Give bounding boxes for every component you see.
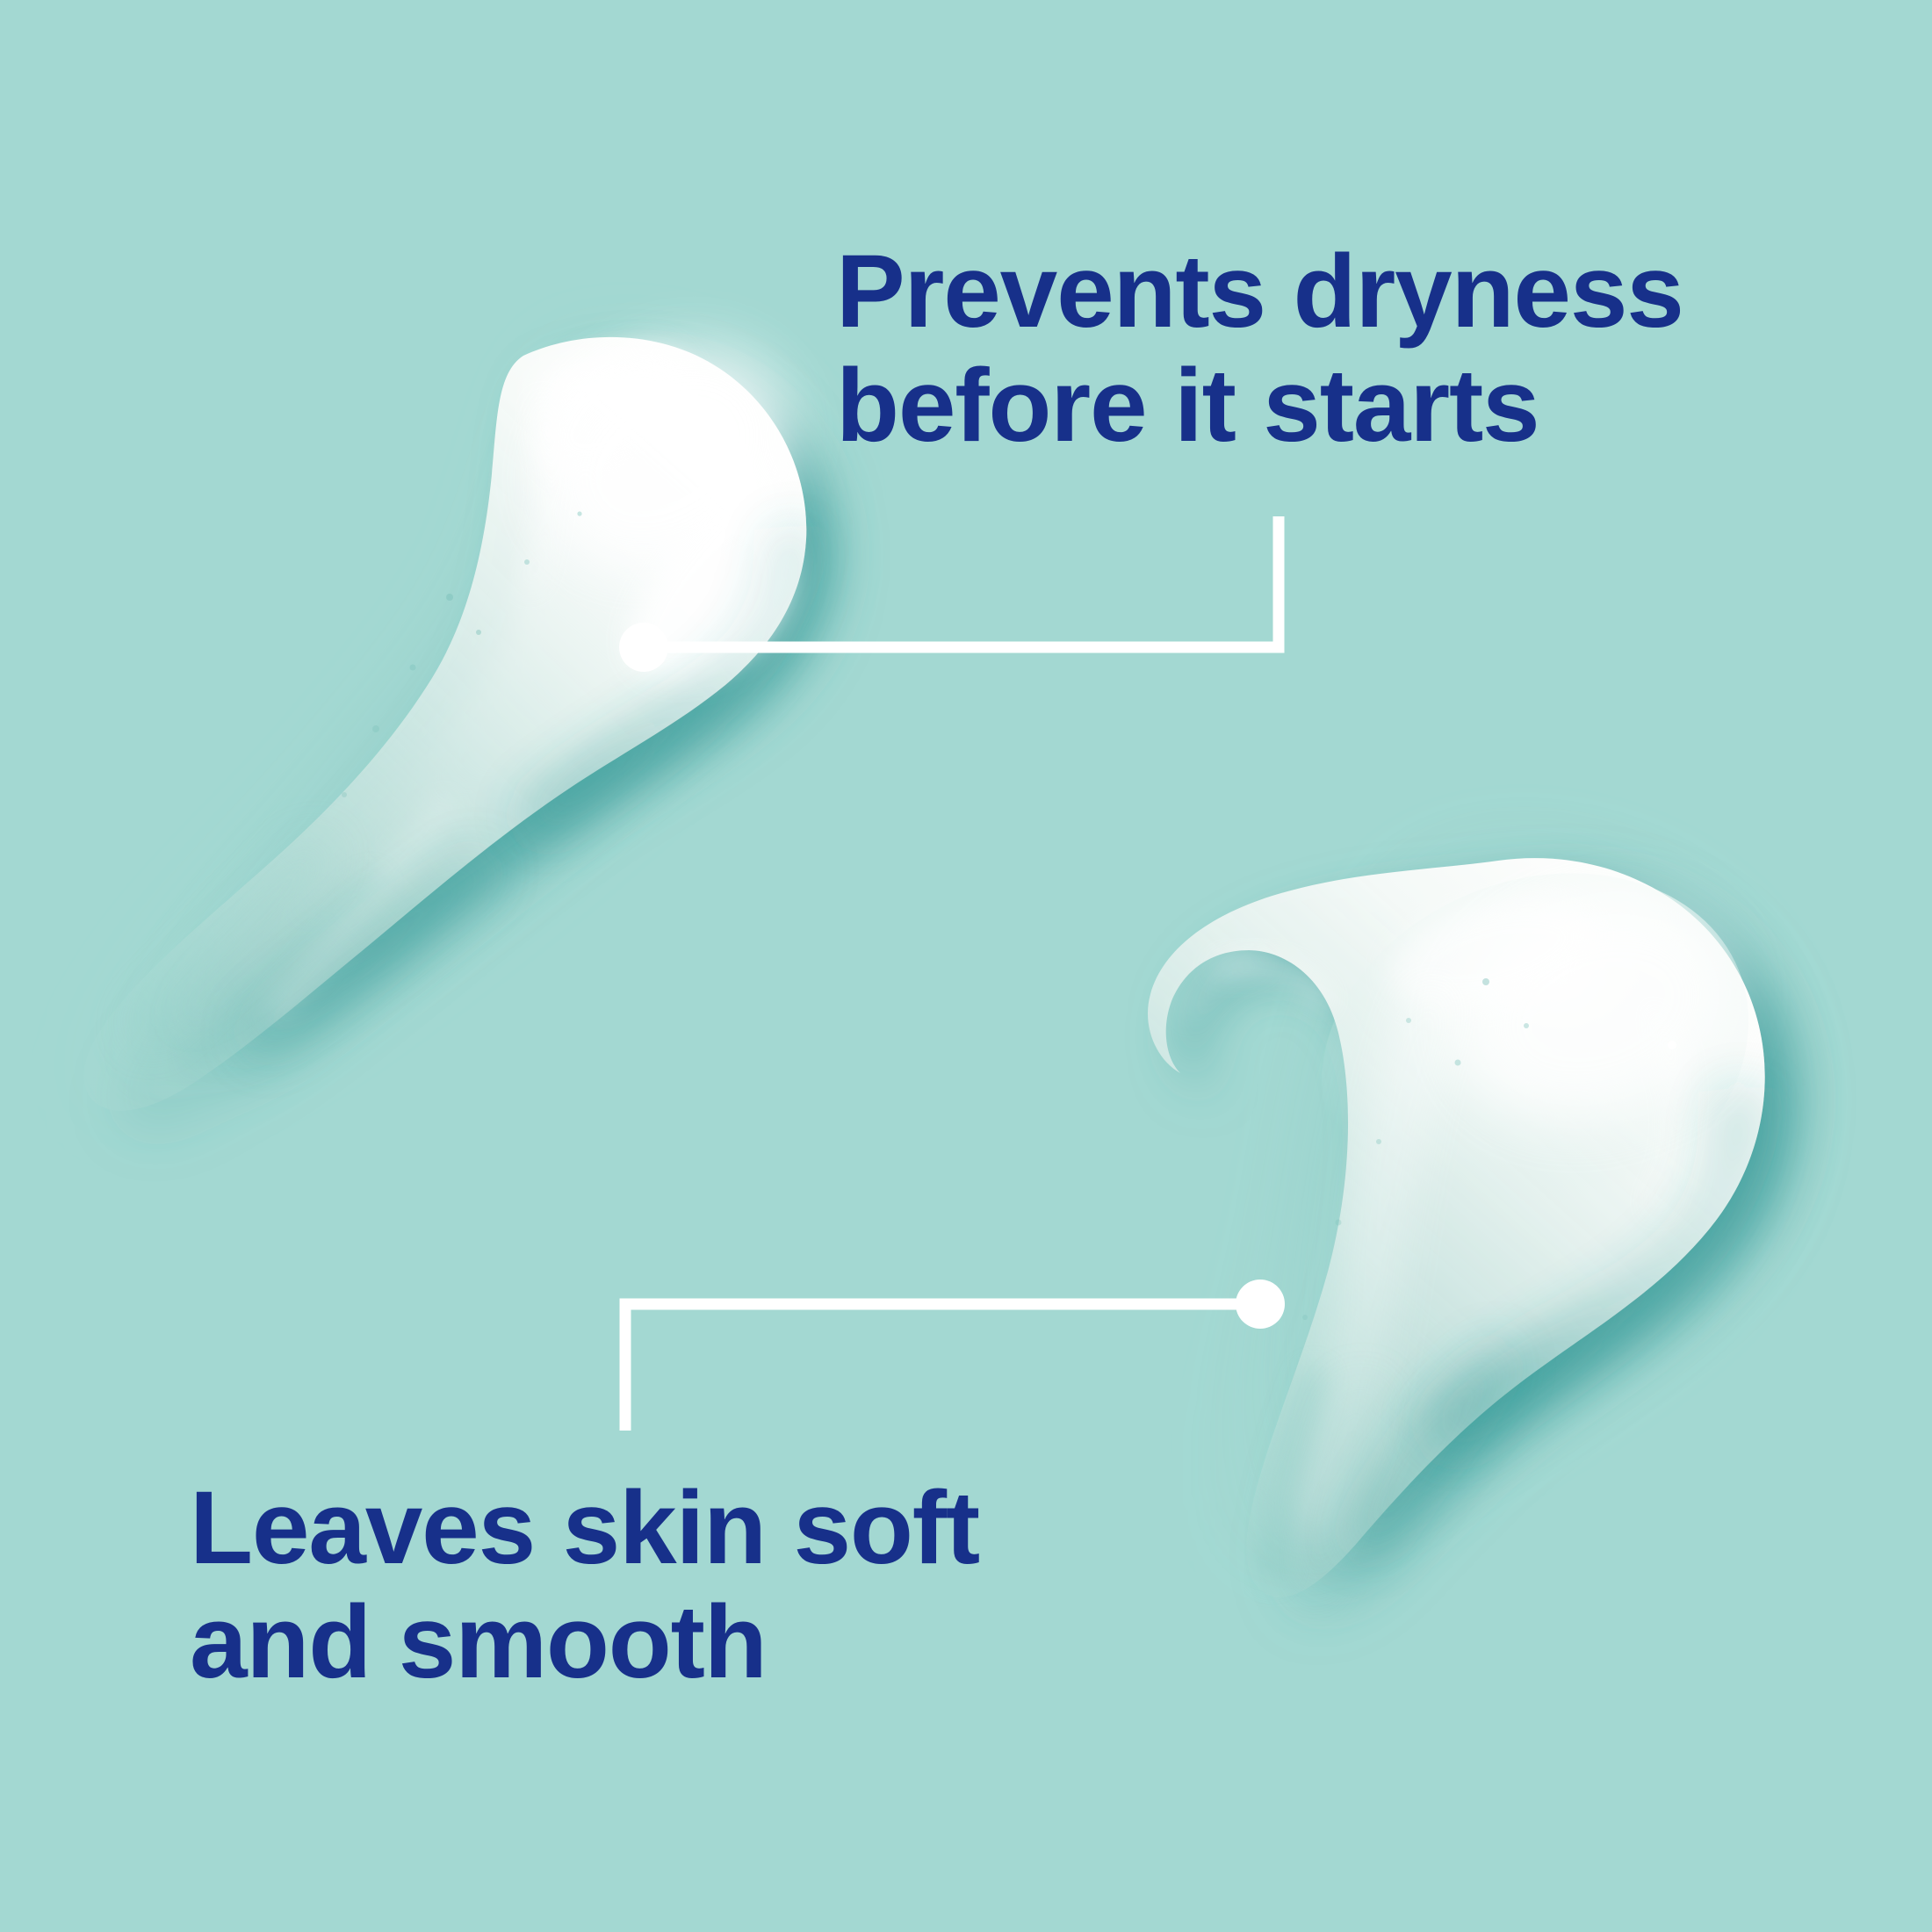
callout-top-dot [619, 623, 668, 672]
product-benefit-graphic: Prevents dryness before it starts Leaves… [0, 0, 1932, 1932]
headline-prevents-dryness: Prevents dryness before it starts [836, 235, 1683, 464]
callout-bottom-line [625, 1304, 1260, 1431]
headline-leaves-skin-soft: Leaves skin soft and smooth [190, 1472, 979, 1700]
callout-bottom-dot [1236, 1280, 1285, 1329]
callout-top [619, 516, 1279, 672]
callout-bottom [625, 1280, 1285, 1431]
callout-top-line [644, 516, 1279, 647]
